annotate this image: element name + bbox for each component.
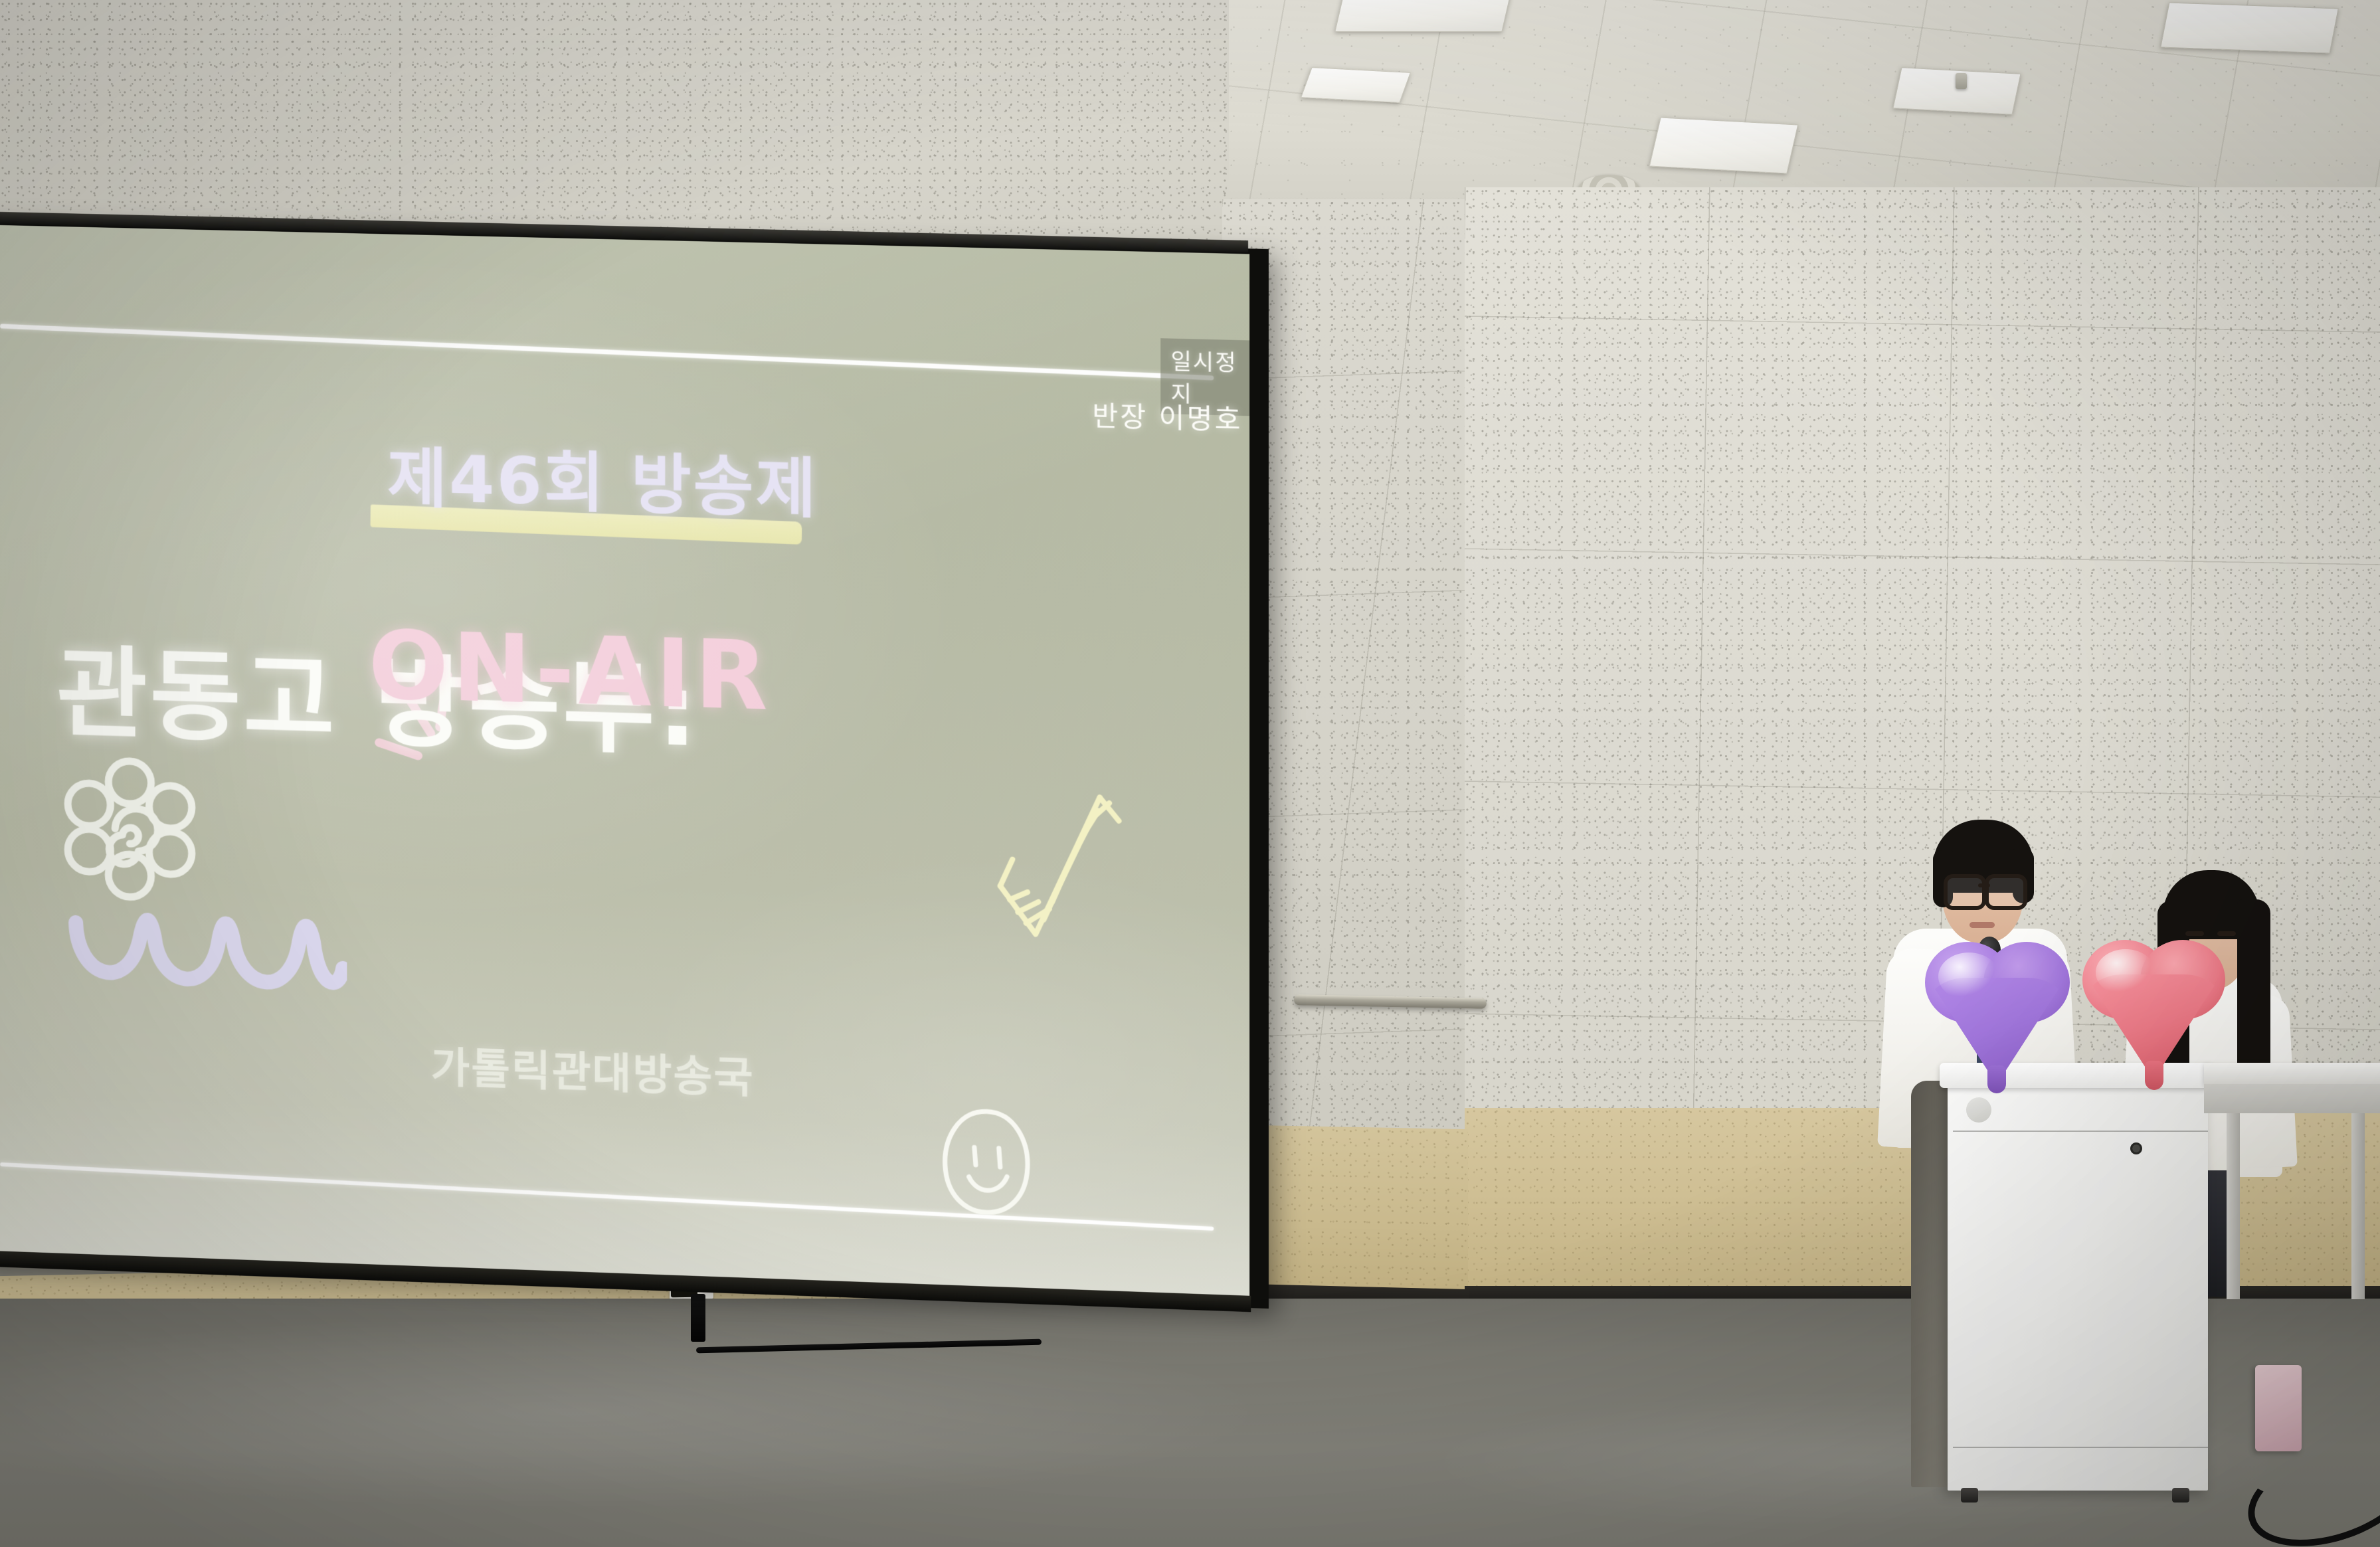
- flower-doodle: [53, 749, 207, 906]
- floor-cable: [691, 1294, 705, 1342]
- presenter-credit: 반장 이명호: [1092, 393, 1242, 438]
- podium-seam: [1953, 1131, 2208, 1132]
- balloon-purple-heart: [1924, 942, 2070, 1088]
- eye-right: [2217, 931, 2236, 936]
- wall-texture: [0, 0, 1229, 252]
- podium-caster: [2172, 1488, 2189, 1502]
- eyeglasses-bridge: [1978, 883, 1990, 887]
- eyeglasses-right-lens: [1985, 874, 2027, 910]
- ceiling-light-panel: [2160, 3, 2338, 54]
- slide-surface: 람 일시정지 반장 이명호 제46회 방송제: [0, 225, 1249, 1303]
- podium-side-panel: [1911, 1081, 1952, 1487]
- ceiling-light-panel: [1334, 0, 1510, 32]
- podium-seam: [1953, 1447, 2208, 1448]
- slide-top-rule: [0, 323, 1214, 380]
- balloon-highlight: [2096, 949, 2155, 996]
- wave-squiggle-doodle: [66, 898, 347, 1014]
- podium-side-circle: [1966, 1097, 1991, 1123]
- sprinkler-head: [1956, 73, 1967, 89]
- bag: [2255, 1365, 2302, 1451]
- podium-lock[interactable]: [2130, 1142, 2142, 1154]
- slide-headline-accent: ON-AIR: [369, 612, 772, 732]
- eye-left: [2185, 931, 2204, 936]
- side-table-leg: [2351, 1113, 2365, 1299]
- balloon-knot: [2145, 1061, 2163, 1090]
- ceiling-light-panel: [1301, 67, 1411, 103]
- check-arrow-doodle: [985, 779, 1135, 945]
- side-table-leg: [2227, 1113, 2240, 1299]
- ceiling-light-panel: [1649, 117, 1799, 173]
- balloon-knot: [1987, 1065, 2006, 1093]
- podium: [1948, 1075, 2208, 1491]
- side-table-top: [2204, 1063, 2380, 1084]
- wall-upper-left: [0, 0, 1229, 252]
- side-table-apron: [2204, 1084, 2380, 1113]
- balloon-highlight: [1938, 953, 1999, 1000]
- mouth: [1969, 922, 1995, 928]
- auditorium-scene: 람 일시정지 반장 이명호 제46회 방송제: [0, 0, 2380, 1547]
- balloon-pink-heart: [2082, 940, 2225, 1083]
- slide-bottom-rule: [0, 1162, 1214, 1231]
- eyeglasses-left-lens: [1944, 874, 1986, 910]
- podium-caster: [1961, 1488, 1978, 1502]
- smiley-face-doodle: [939, 1105, 1034, 1219]
- projection-screen: 람 일시정지 반장 이명호 제46회 방송제: [0, 219, 1269, 1309]
- slide-footer-text: 가톨릭관대방송국: [431, 1034, 755, 1105]
- slide-kicker-title: 제46회 방송제: [387, 424, 818, 530]
